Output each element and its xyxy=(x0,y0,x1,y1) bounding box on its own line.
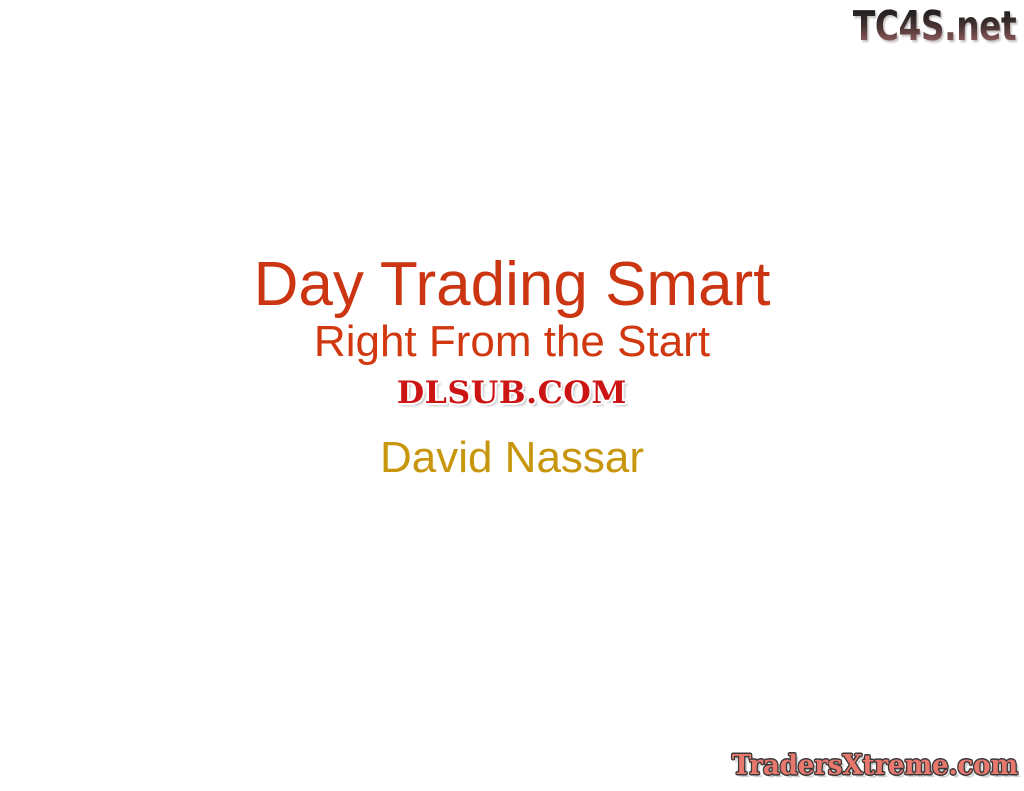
watermark-tc4s: TC4S.net xyxy=(853,2,1016,50)
author-name: David Nassar xyxy=(0,432,1024,484)
presentation-slide: TC4S.net Day Trading Smart Right From th… xyxy=(0,0,1024,791)
author-block: David Nassar xyxy=(0,432,1024,484)
watermark-dlsub-container: DLSUB.COM xyxy=(0,376,1024,410)
watermark-tradersxtreme: TradersXtreme.com xyxy=(732,750,1018,782)
slide-subtitle: Right From the Start xyxy=(0,316,1024,368)
watermark-dlsub: DLSUB.COM xyxy=(397,376,627,410)
title-block: Day Trading Smart Right From the Start xyxy=(0,248,1024,368)
slide-title: Day Trading Smart xyxy=(0,248,1024,322)
